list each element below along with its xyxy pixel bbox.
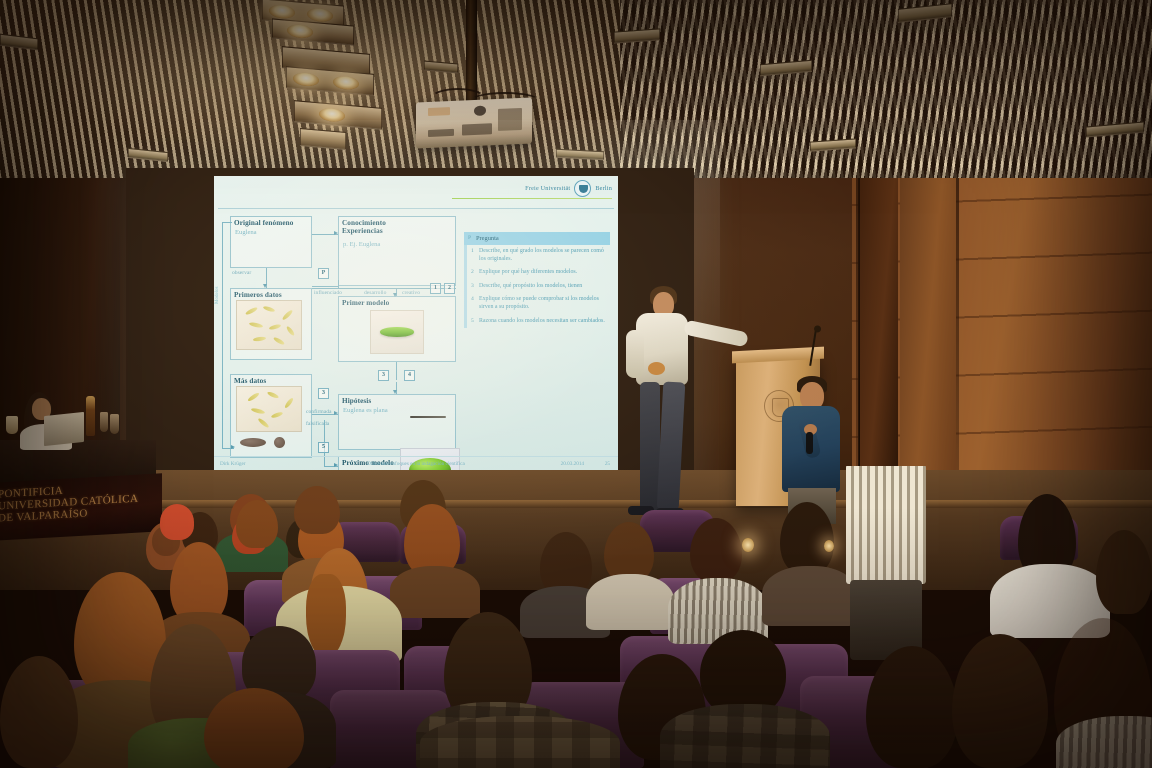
question-number: 2 [471,269,474,277]
arrowhead [231,445,235,449]
chip-3-top: 3 [378,370,389,381]
chip-p: P [318,268,329,279]
question-item: 2 Explique por qué hay diferentes modelo… [464,266,610,280]
brand-rule [452,198,612,199]
presentation-slide: Freie Universität Berlin Modelos Origina… [214,176,618,474]
question-item: 5 Razona cuando los modelos necesitan se… [464,315,610,329]
specimen-blob-small [274,437,285,448]
box-more-data-title: Más datos [231,375,311,385]
edge-label-influenciado: influenciado [314,290,342,296]
vertical-axis-label: Modelos [215,287,220,305]
box-knowledge-experience: Conocimiento Experiencias p. Ej. Euglena [338,216,456,286]
lecture-hall-scene: Freie Universität Berlin Modelos Origina… [0,0,1152,768]
fu-left-text: Freie Universität [525,185,570,192]
chip-4: 4 [404,370,415,381]
slatted-ceiling [0,0,1152,178]
box-original-title: Original fenómeno [231,217,311,227]
aisle-step-light [742,538,754,552]
micrograph-first-data [236,300,302,350]
arrowhead [393,293,397,297]
projection-screen: Freie Universität Berlin Modelos Origina… [214,176,618,474]
box-hypothesis-subtitle: Euglena es plana [339,405,455,414]
chip-5: 5 [318,442,329,453]
question-item: 1 Describe, en qué grado los modelos se … [464,245,610,266]
questions-panel: P Pregunta 1 Describe, en qué grado los … [464,232,610,328]
university-seal-icon [574,180,591,197]
freie-universitat-logo: Freie Universität Berlin [525,180,612,197]
chip-2: 2 [444,283,455,294]
box-hypothesis: Hipótesis Euglena es plana [338,394,456,450]
box-original-subtitle: Euglena [231,227,311,236]
question-number: 3 [471,283,474,291]
audience [0,466,1152,768]
arrowhead [393,390,397,394]
question-number: 1 [471,248,474,256]
bottle [86,396,95,436]
cup [6,416,18,434]
hypothesis-edge-line [410,416,446,418]
connector [396,362,397,380]
box-knowledge-title-1: Conocimiento [339,217,455,227]
connector-left-spine [222,222,223,448]
question-text: Describe, qué propósito los modelos, tie… [479,283,582,289]
arrowhead [334,231,338,235]
box-first-data-title: Primeros datos [231,289,311,299]
question-text: Describe, en qué grado los modelos se pa… [479,248,604,262]
question-text: Explique cómo se puede comprobar si los … [479,296,599,310]
edge-label-observar: observar [232,270,251,276]
box-knowledge-subtitle: p. Ej. Euglena [339,235,455,248]
first-model-image [370,310,424,354]
questions-header: P Pregunta [464,232,610,245]
connector [338,280,339,288]
drinking-glass [100,412,108,432]
question-item: 3 Describe, qué propósito los modelos, t… [464,280,610,294]
box-knowledge-title-2: Experiencias [339,227,455,235]
box-first-model-title: Primer modelo [339,297,455,307]
connector [312,286,338,287]
question-item: 4 Explique cómo se puede comprobar si lo… [464,293,610,314]
questions-header-label: Pregunta [476,235,499,242]
box-hypothesis-title: Hipótesis [339,395,455,405]
projector-cable [470,92,540,110]
question-number: 5 [471,318,474,326]
laptop [44,412,84,446]
edge-label-confirmada: confirmada [306,409,331,415]
connector [222,222,232,223]
edge-label-creativo: creativo [402,290,420,296]
micrograph-more-data [236,386,302,432]
header-divider [218,208,614,209]
edge-label-falsificada: falsificada [306,421,329,427]
arrowhead [263,284,267,288]
question-text: Explique por qué hay diferentes modelos. [479,269,577,275]
euglena-flat-model [380,327,413,336]
chip-1: 1 [430,283,441,294]
chip-3-side: 3 [318,388,329,399]
specimen-blob-large [240,438,266,447]
fu-right-text: Berlin [595,185,612,192]
drinking-glass [110,414,119,434]
question-text: Razona cuando los modelos necesitan ser … [479,318,605,324]
aisle-step-light [824,540,834,552]
box-original-phenomenon: Original fenómeno Euglena [230,216,312,268]
questions-header-marker: P [468,235,471,241]
handheld-microphone [806,432,813,454]
arrowhead [334,411,338,415]
question-number: 4 [471,296,474,304]
edge-label-desarrollo: desarrollo [364,290,386,296]
